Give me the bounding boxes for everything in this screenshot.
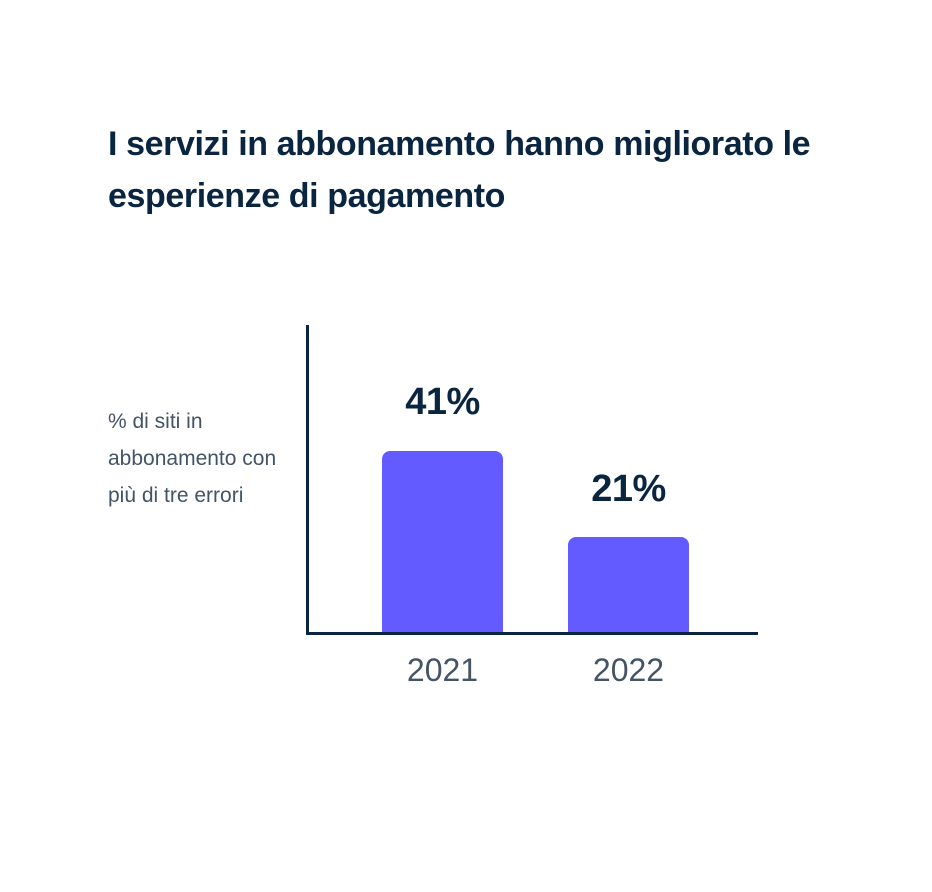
chart-figure: I servizi in abbonamento hanno migliorat…	[0, 0, 932, 892]
x-tick-label-2021: 2021	[382, 652, 503, 689]
bar-2022	[568, 537, 689, 632]
x-axis-line	[306, 632, 758, 635]
plot-area: % di siti in abbonamento con più di tre …	[0, 0, 932, 892]
x-tick-label-2022: 2022	[568, 652, 689, 689]
y-axis-line	[306, 325, 309, 635]
bar-value-2022: 21%	[568, 468, 689, 511]
y-axis-label: % di siti in abbonamento con più di tre …	[108, 403, 304, 514]
bar-2021	[382, 451, 503, 632]
bar-value-2021: 41%	[382, 381, 503, 424]
